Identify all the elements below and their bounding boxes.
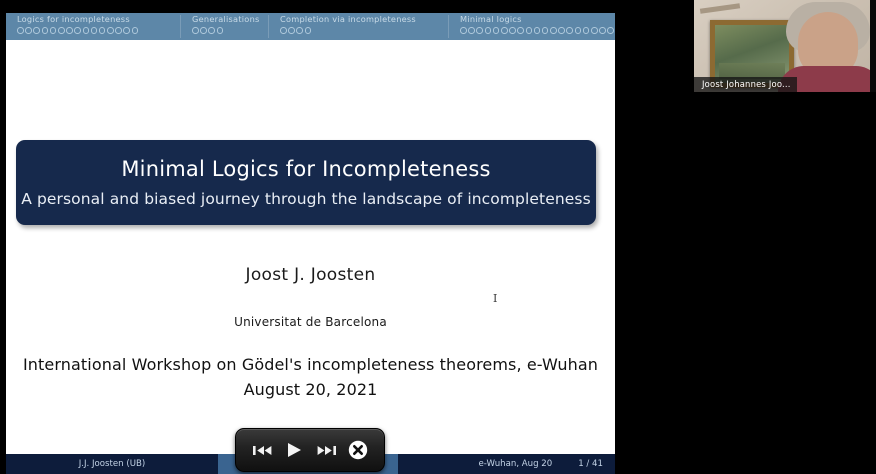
nav-section-label: Minimal logics xyxy=(460,13,615,26)
next-track-button[interactable] xyxy=(313,438,339,462)
nav-frame-dot[interactable] xyxy=(217,27,224,34)
slide-viewport[interactable]: Logics for incompleteness Generalisation… xyxy=(6,13,615,474)
venue-line-2: August 20, 2021 xyxy=(6,377,615,402)
nav-frame-dot[interactable] xyxy=(17,27,24,34)
skip-forward-icon xyxy=(317,444,336,457)
nav-frame-dot[interactable] xyxy=(558,27,565,34)
nav-section-dots[interactable] xyxy=(192,27,269,34)
previous-track-button[interactable] xyxy=(249,438,275,462)
page-subtitle: A personal and biased journey through th… xyxy=(21,190,591,208)
nav-frame-dot[interactable] xyxy=(296,27,303,34)
nav-frame-dot[interactable] xyxy=(33,27,40,34)
nav-frame-dot[interactable] xyxy=(583,27,590,34)
nav-section-generalisations[interactable]: Generalisations xyxy=(181,13,269,40)
nav-section-label: Generalisations xyxy=(192,13,269,26)
nav-frame-dot[interactable] xyxy=(132,27,139,34)
nav-frame-dot[interactable] xyxy=(288,27,295,34)
nav-frame-dot[interactable] xyxy=(591,27,598,34)
nav-frame-dot[interactable] xyxy=(200,27,207,34)
webcam-thumbnail[interactable]: Joost Johannes Joo... xyxy=(694,0,876,92)
nav-frame-dot[interactable] xyxy=(192,27,199,34)
author-name: Joost J. Joosten xyxy=(6,265,615,285)
text-cursor-marker: I xyxy=(493,292,497,305)
nav-frame-dot[interactable] xyxy=(607,27,614,34)
nav-frame-dot[interactable] xyxy=(526,27,533,34)
nav-frame-dot[interactable] xyxy=(115,27,122,34)
nav-section-minimal-logics[interactable]: Minimal logics xyxy=(449,13,615,40)
nav-frame-dot[interactable] xyxy=(460,27,467,34)
nav-frame-dot[interactable] xyxy=(542,27,549,34)
presentation-screen: Logics for incompleteness Generalisation… xyxy=(0,0,876,474)
nav-frame-dot[interactable] xyxy=(566,27,573,34)
nav-frame-dot[interactable] xyxy=(468,27,475,34)
nav-frame-dot[interactable] xyxy=(74,27,81,34)
nav-section-dots[interactable] xyxy=(460,27,615,34)
nav-frame-dot[interactable] xyxy=(58,27,65,34)
nav-frame-dot[interactable] xyxy=(575,27,582,34)
close-button[interactable] xyxy=(345,438,371,462)
nav-frame-dot[interactable] xyxy=(501,27,508,34)
nav-section-dots[interactable] xyxy=(17,27,181,34)
nav-frame-dot[interactable] xyxy=(517,27,524,34)
nav-frame-dot[interactable] xyxy=(123,27,130,34)
participant-name-label: Joost Johannes Joo... xyxy=(694,77,797,92)
footline-author: J.J. Joosten (UB) xyxy=(6,454,218,474)
nav-frame-dot[interactable] xyxy=(107,27,114,34)
venue-line-1: International Workshop on Gödel's incomp… xyxy=(6,352,615,377)
nav-section-label: Logics for incompleteness xyxy=(17,13,181,26)
nav-section-completion-via-incompleteness[interactable]: Completion via incompleteness xyxy=(269,13,449,40)
nav-frame-dot[interactable] xyxy=(509,27,516,34)
close-circle-icon xyxy=(348,440,368,460)
nav-frame-dot[interactable] xyxy=(91,27,98,34)
beamer-navigation-bar[interactable]: Logics for incompleteness Generalisation… xyxy=(6,13,615,40)
nav-frame-dot[interactable] xyxy=(42,27,49,34)
nav-frame-dot[interactable] xyxy=(493,27,500,34)
nav-frame-dot[interactable] xyxy=(476,27,483,34)
nav-frame-dot[interactable] xyxy=(66,27,73,34)
nav-frame-dot[interactable] xyxy=(534,27,541,34)
footline-right: e-Wuhan, Aug 20 1 / 41 xyxy=(398,454,615,474)
footline-page-number: 1 / 41 xyxy=(578,459,603,469)
title-block: Minimal Logics for Incompleteness A pers… xyxy=(16,140,596,225)
nav-frame-dot[interactable] xyxy=(83,27,90,34)
venue-info: International Workshop on Gödel's incomp… xyxy=(6,352,615,402)
nav-frame-dot[interactable] xyxy=(50,27,57,34)
slide-body: Minimal Logics for Incompleteness A pers… xyxy=(6,40,615,474)
nav-frame-dot[interactable] xyxy=(599,27,606,34)
nav-frame-dot[interactable] xyxy=(99,27,106,34)
nav-frame-dot[interactable] xyxy=(485,27,492,34)
nav-section-label: Completion via incompleteness xyxy=(280,13,449,26)
nav-frame-dot[interactable] xyxy=(550,27,557,34)
nav-frame-dot[interactable] xyxy=(208,27,215,34)
play-button[interactable] xyxy=(281,438,307,462)
nav-frame-dot[interactable] xyxy=(280,27,287,34)
nav-section-dots[interactable] xyxy=(280,27,449,34)
nav-frame-dot[interactable] xyxy=(305,27,312,34)
page-title: Minimal Logics for Incompleteness xyxy=(121,157,490,181)
play-icon xyxy=(287,442,302,458)
skip-backward-icon xyxy=(253,444,272,457)
author-affiliation: Universitat de Barcelona xyxy=(6,315,615,329)
nav-section-logics-for-incompleteness[interactable]: Logics for incompleteness xyxy=(6,13,181,40)
webcam-edge-strip xyxy=(870,0,876,92)
media-control-bar[interactable] xyxy=(235,428,385,472)
nav-frame-dot[interactable] xyxy=(25,27,32,34)
footline-venue: e-Wuhan, Aug 20 xyxy=(478,459,552,469)
